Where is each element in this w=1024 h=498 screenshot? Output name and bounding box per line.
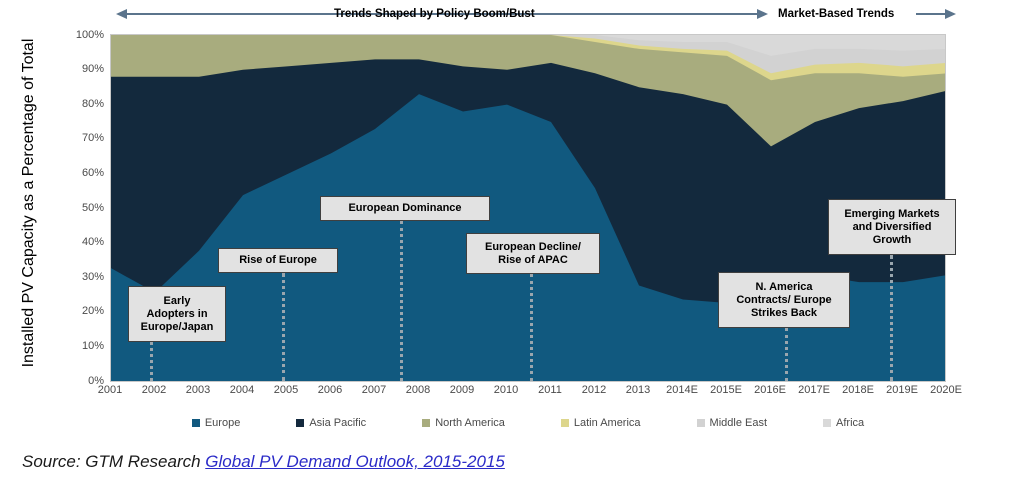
x-tick-2016E: 2016E <box>754 384 786 396</box>
source-line: Source: GTM Research Global PV Demand Ou… <box>22 452 505 472</box>
legend-label: Middle East <box>710 417 767 429</box>
x-tick-2003: 2003 <box>186 384 210 396</box>
callout-leader-3 <box>530 274 533 381</box>
legend-swatch-icon <box>561 419 569 427</box>
y-tick-80: 80% <box>38 98 104 110</box>
x-tick-2004: 2004 <box>230 384 254 396</box>
y-tick-10: 10% <box>38 340 104 352</box>
y-tick-100: 100% <box>38 29 104 41</box>
y-tick-20: 20% <box>38 305 104 317</box>
x-tick-2007: 2007 <box>362 384 386 396</box>
legend-swatch-icon <box>422 419 430 427</box>
callout-text: Emerging Markets and Diversified Growth <box>844 208 939 247</box>
y-tick-60: 60% <box>38 167 104 179</box>
x-tick-2010: 2010 <box>494 384 518 396</box>
x-tick-2011: 2011 <box>538 384 562 396</box>
legend-swatch-icon <box>697 419 705 427</box>
callout-leader-5 <box>890 255 893 381</box>
legend-item-europe[interactable]: Europe <box>192 417 240 429</box>
callout-leader-2 <box>400 221 403 381</box>
x-tick-2001: 2001 <box>98 384 122 396</box>
callout-text: European Decline/ Rise of APAC <box>485 241 581 267</box>
callout-annotation: Rise of Europe <box>218 248 338 273</box>
legend-label: Latin America <box>574 417 641 429</box>
x-tick-2005: 2005 <box>274 384 298 396</box>
callout-annotation: N. America Contracts/ Europe Strikes Bac… <box>718 272 850 328</box>
y-tick-40: 40% <box>38 236 104 248</box>
chart-legend: EuropeAsia PacificNorth AmericaLatin Ame… <box>110 412 946 434</box>
x-tick-2009: 2009 <box>450 384 474 396</box>
callout-text: European Dominance <box>348 202 461 215</box>
x-tick-2014E: 2014E <box>666 384 698 396</box>
y-tick-70: 70% <box>38 132 104 144</box>
x-tick-2002: 2002 <box>142 384 166 396</box>
x-tick-2006: 2006 <box>318 384 342 396</box>
legend-swatch-icon <box>823 419 831 427</box>
legend-label: Europe <box>205 417 240 429</box>
legend-label: North America <box>435 417 505 429</box>
legend-item-asia-pacific[interactable]: Asia Pacific <box>296 417 366 429</box>
y-tick-90: 90% <box>38 63 104 75</box>
legend-item-middle-east[interactable]: Middle East <box>697 417 767 429</box>
x-tick-2020E: 2020E <box>930 384 962 396</box>
source-prefix: Source: GTM Research <box>22 452 205 471</box>
x-tick-2013: 2013 <box>626 384 650 396</box>
x-tick-2008: 2008 <box>406 384 430 396</box>
x-tick-2019E: 2019E <box>886 384 918 396</box>
callout-annotation: European Dominance <box>320 196 490 221</box>
legend-item-latin-america[interactable]: Latin America <box>561 417 641 429</box>
x-tick-2018E: 2018E <box>842 384 874 396</box>
callout-leader-1 <box>282 273 285 381</box>
legend-swatch-icon <box>192 419 200 427</box>
legend-label: Asia Pacific <box>309 417 366 429</box>
y-tick-0: 0% <box>38 375 104 387</box>
callout-text: Early Adopters in Europe/Japan <box>141 295 214 334</box>
source-link[interactable]: Global PV Demand Outlook, 2015-2015 <box>205 452 505 471</box>
stacked-area-chart <box>110 34 946 382</box>
callout-leader-4 <box>785 328 788 381</box>
y-tick-50: 50% <box>38 202 104 214</box>
x-tick-2012: 2012 <box>582 384 606 396</box>
callout-annotation: Emerging Markets and Diversified Growth <box>828 199 956 255</box>
area-series-layer <box>111 35 946 382</box>
callout-annotation: Early Adopters in Europe/Japan <box>128 286 226 342</box>
legend-item-africa[interactable]: Africa <box>823 417 864 429</box>
callout-text: N. America Contracts/ Europe Strikes Bac… <box>736 281 831 320</box>
callout-annotation: European Decline/ Rise of APAC <box>466 233 600 274</box>
x-tick-2017E: 2017E <box>798 384 830 396</box>
legend-swatch-icon <box>296 419 304 427</box>
y-tick-30: 30% <box>38 271 104 283</box>
x-tick-2015E: 2015E <box>710 384 742 396</box>
y-axis-title: Installed PV Capacity as a Percentage of… <box>20 38 38 368</box>
callout-text: Rise of Europe <box>239 254 317 267</box>
legend-label: Africa <box>836 417 864 429</box>
callout-leader-0 <box>150 342 153 381</box>
legend-item-north-america[interactable]: North America <box>422 417 505 429</box>
